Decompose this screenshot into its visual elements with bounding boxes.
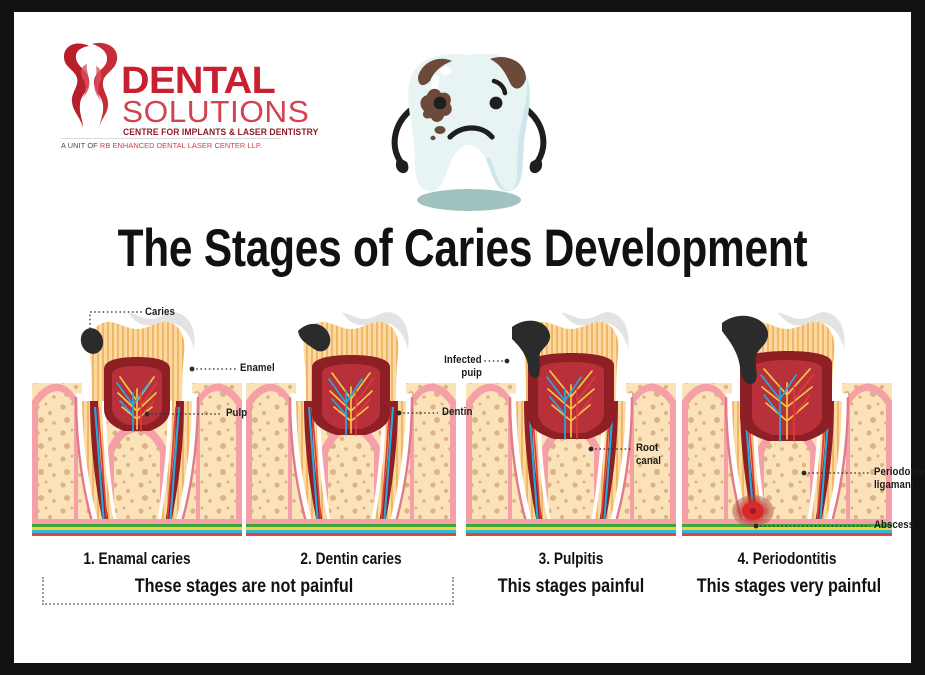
mascot-highlight-2 xyxy=(440,67,452,75)
mascot-right-arm xyxy=(526,109,543,161)
stage-caption-3: 3. Pulpitis xyxy=(484,550,658,569)
callout-label-caries: Caries xyxy=(145,306,175,318)
callout-overlay xyxy=(14,297,925,557)
bracket-tick-left xyxy=(42,577,44,605)
bracket-tick-right xyxy=(452,577,454,605)
logo-unit-prefix: A UNIT OF xyxy=(61,141,100,150)
logo-text-solutions: SOLUTIONS xyxy=(122,96,309,127)
poster-canvas: DENTAL SOLUTIONS CENTRE FOR IMPLANTS & L… xyxy=(14,12,911,663)
stage-caption-1: 1. Enamal caries xyxy=(50,550,224,569)
mascot-ground-shadow xyxy=(417,189,521,211)
callout-label-pulp: Pulp xyxy=(226,407,247,419)
callout-dot-caries xyxy=(88,331,93,336)
tooth-swirl-icon xyxy=(59,40,121,130)
callout-dot-root-canal xyxy=(589,447,594,452)
mascot-right-eye xyxy=(490,97,503,110)
stage-caption-2: 2. Dentin caries xyxy=(264,550,438,569)
logo-unit-line: A UNIT OF RB ENHANCED DENTAL LASER CENTE… xyxy=(61,141,262,150)
callout-label-enamel: Enamel xyxy=(240,362,275,374)
logo-tagline: CENTRE FOR IMPLANTS & LASER DENTISTRY xyxy=(123,127,318,137)
sad-tooth-mascot xyxy=(374,37,564,212)
mascot-left-arm xyxy=(395,109,412,161)
callout-dot-dentin xyxy=(397,411,402,416)
logo-unit-highlight: RB ENHANCED DENTAL LASER CENTER LLP. xyxy=(100,141,262,150)
logo-divider xyxy=(61,138,281,139)
brand-logo: DENTAL SOLUTIONS CENTRE FOR IMPLANTS & L… xyxy=(59,38,284,148)
callout-dot-enamel xyxy=(190,367,195,372)
poster-frame: DENTAL SOLUTIONS CENTRE FOR IMPLANTS & L… xyxy=(0,0,925,675)
pain-note-stages-1-2: These stages are not painful xyxy=(68,575,420,598)
mascot-right-hand xyxy=(530,157,542,173)
callout-dot-infected-pulp xyxy=(505,359,510,364)
mascot-left-hand xyxy=(396,157,408,173)
callout-dot-pulp xyxy=(145,412,150,417)
callout-dot-periodontal xyxy=(802,471,807,476)
callout-dot-abscess xyxy=(754,524,759,529)
stage-diagram-row: Caries Enamel Pulp Dentin Infected puip … xyxy=(14,297,925,557)
pain-note-stage-3: This stages painful xyxy=(484,575,658,598)
callout-label-dentin: Dentin xyxy=(442,406,472,418)
mascot-left-eye xyxy=(434,97,447,110)
stage-caption-4: 4. Periodontitis xyxy=(700,550,874,569)
pain-note-stage-4: This stages very painful xyxy=(697,575,880,598)
mascot-decay-spot-small xyxy=(435,126,446,134)
bracket-horizontal xyxy=(42,603,454,605)
mascot-decay-spot-tiny xyxy=(430,136,435,140)
page-title: The Stages of Caries Development xyxy=(104,218,822,279)
callout-label-abscess: Abscess xyxy=(874,519,914,531)
